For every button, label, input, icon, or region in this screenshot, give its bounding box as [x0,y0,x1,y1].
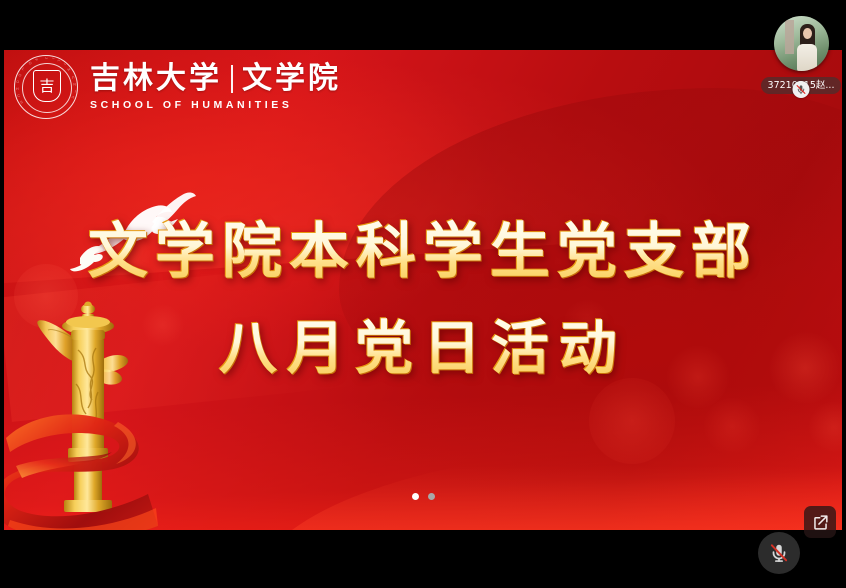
seal-monogram: 吉 [33,70,61,102]
bokeh-circle [589,378,675,464]
slide-title-line-2: 八月党日活动 [4,312,842,385]
avatar-body [797,44,817,71]
wordmark: 吉林大学 文学院 SCHOOL OF HUMANITIES [90,63,341,112]
slide-title-line-1: 文学院本科学生党支部 [4,215,842,290]
video-conference-screen: S C H O O L O F J I L I N U N I V [0,0,846,588]
slide-pagination[interactable] [4,493,842,500]
annotate-pencil-icon [811,513,830,532]
slide-dot-1[interactable] [412,493,419,500]
avatar-face [803,28,812,39]
mic-toggle-button[interactable] [758,532,800,574]
bokeh-circle [809,402,842,452]
university-logo-lockup: S C H O O L O F J I L I N U N I V [14,55,341,119]
bokeh-circle [704,398,760,454]
silk-wave-bottom-fold [255,444,842,530]
avatar-background-detail [785,20,794,54]
participant-avatar[interactable] [774,16,829,71]
wordmark-english: SCHOOL OF HUMANITIES [90,99,341,111]
slide-dot-2[interactable] [428,493,435,500]
muted-microphone-icon [768,542,790,564]
wordmark-school: 文学院 [242,63,341,95]
letterbox-top [0,0,846,50]
wordmark-divider [231,65,233,93]
wordmark-university: 吉林大学 [90,63,222,95]
annotate-button[interactable] [804,506,836,538]
letterbox-bottom [0,530,846,588]
participant-tile[interactable]: 37210515赵... [769,16,833,94]
university-seal-icon: S C H O O L O F J I L I N U N I V [14,55,78,119]
letterbox-right [842,0,846,588]
participant-muted-mic-icon [793,81,810,98]
shared-slide-stage[interactable]: S C H O O L O F J I L I N U N I V [4,50,842,530]
slide-title-block: 文学院本科学生党支部 八月党日活动 [4,215,842,385]
wordmark-chinese-row: 吉林大学 文学院 [90,63,341,95]
